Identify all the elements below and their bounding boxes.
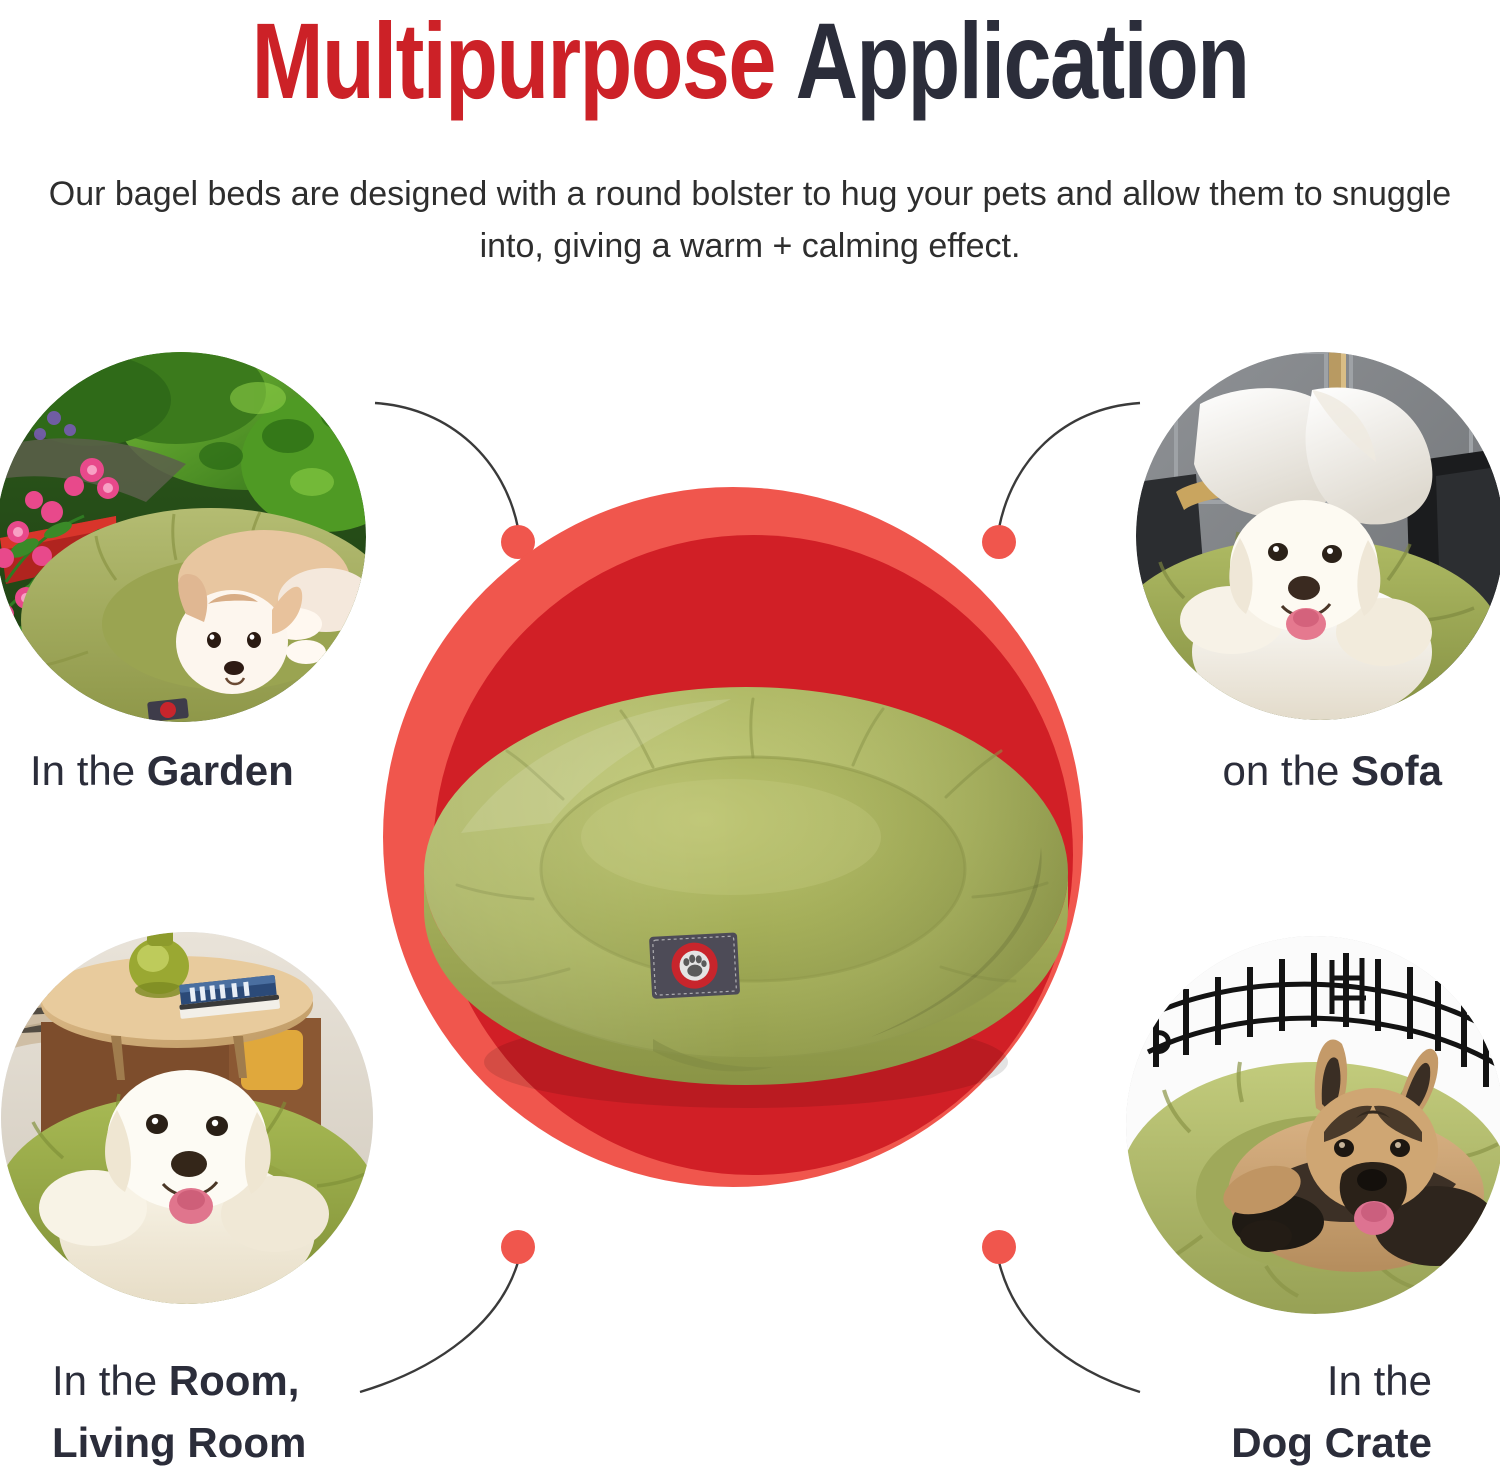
product-badge [383,487,1103,1207]
callout-dot-dog-crate [982,1230,1016,1264]
caption-garden: In the Garden [30,740,294,802]
caption-living-room-line1: In the Room, [52,1350,306,1412]
callout-dot-living-room [501,1230,535,1264]
infographic-canvas: MultipurposeApplication Our bagel beds a… [0,0,1500,1471]
caption-living-room: In the Room, Living Room [52,1350,306,1471]
connector-dog-crate [999,1262,1140,1392]
caption-living-room-plain: In the [52,1357,169,1404]
connector-living-room [360,1262,518,1392]
caption-sofa-plain: on the [1223,747,1351,794]
caption-sofa: on the Sofa [1223,740,1442,802]
photo-living-room [1,932,373,1304]
caption-garden-plain: In the [30,747,147,794]
caption-sofa-bold: Sofa [1351,747,1442,794]
page-subtitle: Our bagel beds are designed with a round… [40,168,1460,272]
caption-dog-crate-line1: In the [1231,1350,1432,1412]
title-highlight: Multipurpose [252,0,775,121]
caption-garden-bold: Garden [147,747,294,794]
page-title: MultipurposeApplication [150,2,1350,120]
brand-label [649,932,740,999]
caption-living-room-bold: Room, [169,1357,300,1404]
caption-dog-crate: In the Dog Crate [1231,1350,1432,1471]
caption-dog-crate-line2: Dog Crate [1231,1412,1432,1471]
product-image-bagel-dog-bed [401,637,1091,1117]
photo-garden [0,352,366,722]
photo-dog-crate [1126,936,1500,1314]
caption-living-room-line2: Living Room [52,1412,306,1471]
photo-sofa [1136,352,1500,720]
title-secondary: Application [796,0,1249,121]
